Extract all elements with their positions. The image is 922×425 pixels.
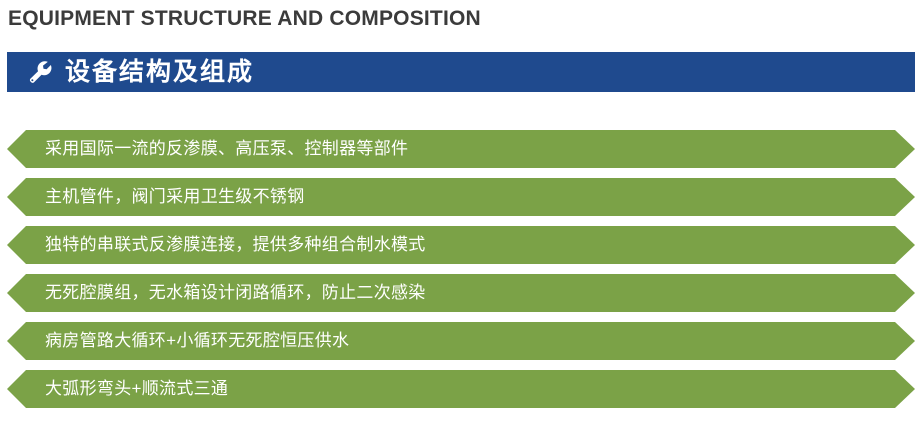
feature-row-label: 病房管路大循环+小循环无死腔恒压供水 [45,330,349,352]
feature-row-2: 主机管件，阀门采用卫生级不锈钢 [7,178,915,216]
feature-row-label: 采用国际一流的反渗膜、高压泵、控制器等部件 [45,138,408,160]
feature-row-label: 大弧形弯头+顺流式三通 [45,378,228,400]
feature-row-label: 无死腔膜组，无水箱设计闭路循环，防止二次感染 [45,282,426,304]
feature-row-3: 独特的串联式反渗膜连接，提供多种组合制水模式 [7,226,915,264]
feature-row-label: 主机管件，阀门采用卫生级不锈钢 [45,186,305,208]
feature-row-label: 独特的串联式反渗膜连接，提供多种组合制水模式 [45,234,426,256]
page-title: EQUIPMENT STRUCTURE AND COMPOSITION [8,5,481,33]
section-header-title: 设备结构及组成 [65,57,254,87]
feature-row-1: 采用国际一流的反渗膜、高压泵、控制器等部件 [7,130,915,168]
slide-root: EQUIPMENT STRUCTURE AND COMPOSITION 设备结构… [0,0,922,425]
wrench-icon [27,59,53,85]
feature-row-list: 采用国际一流的反渗膜、高压泵、控制器等部件 主机管件，阀门采用卫生级不锈钢 独特… [0,130,922,408]
feature-row-6: 大弧形弯头+顺流式三通 [7,370,915,408]
feature-row-5: 病房管路大循环+小循环无死腔恒压供水 [7,322,915,360]
feature-row-4: 无死腔膜组，无水箱设计闭路循环，防止二次感染 [7,274,915,312]
section-header-bar: 设备结构及组成 [7,52,915,92]
